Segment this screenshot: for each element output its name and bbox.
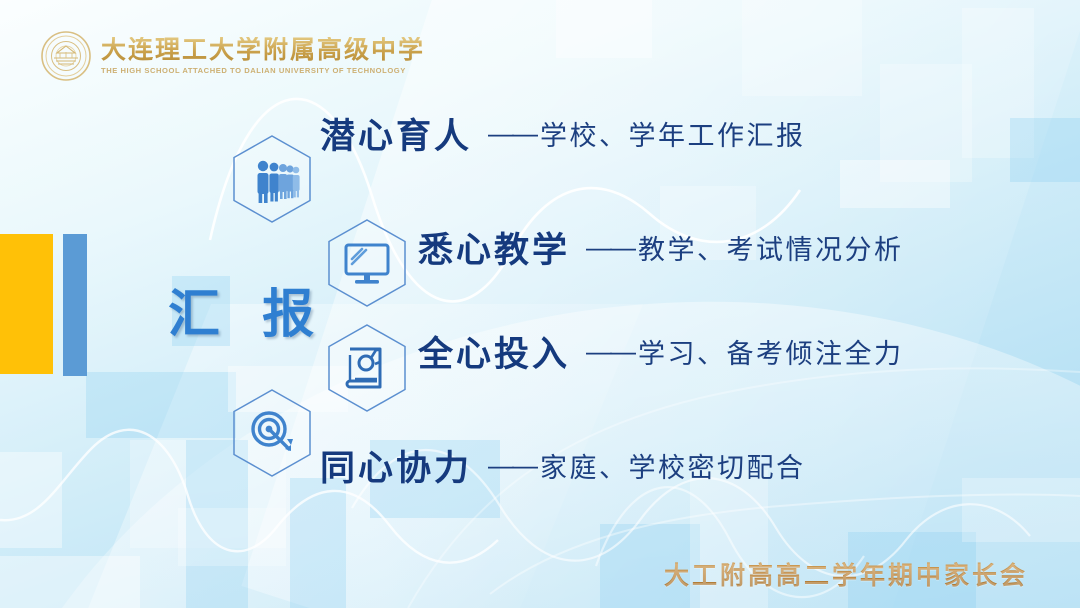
background-rect xyxy=(1010,118,1080,182)
school-name-en: THE HIGH SCHOOL ATTACHED TO DALIAN UNIVE… xyxy=(101,66,425,75)
row-dash: —— xyxy=(586,336,634,367)
content-row: 同心协力 —— 家庭、学校密切配合 xyxy=(320,440,806,491)
row-subtitle: 教学、考试情况分析 xyxy=(638,228,904,267)
background-rect xyxy=(0,452,62,548)
background-rect xyxy=(178,508,286,566)
row-dash: —— xyxy=(488,118,536,149)
background-rect xyxy=(556,0,652,58)
row-subtitle: 学校、学年工作汇报 xyxy=(540,114,806,153)
background-wave-curves xyxy=(0,0,1080,608)
row-subtitle: 学习、备考倾注全力 xyxy=(638,332,904,371)
content-row: 悉心教学 —— 教学、考试情况分析 xyxy=(418,222,904,273)
row-title: 全心投入 xyxy=(418,326,570,377)
presentation-slide: 大连理工大学附属高级中学 THE HIGH SCHOOL ATTACHED TO… xyxy=(0,0,1080,608)
row-dash: —— xyxy=(586,232,634,263)
accent-bar-blue xyxy=(63,234,87,376)
row-dash: —— xyxy=(488,450,536,481)
content-row: 全心投入 —— 学习、备考倾注全力 xyxy=(418,326,904,377)
target-dartboard-icon xyxy=(229,387,315,479)
background-rect xyxy=(86,372,236,438)
background-rect xyxy=(0,556,140,608)
row-title: 潜心育人 xyxy=(320,108,472,159)
section-label: 汇 报 xyxy=(168,272,326,347)
background-rect xyxy=(880,64,972,182)
background-rect xyxy=(742,0,862,96)
background-arc-sweep xyxy=(0,242,1080,608)
school-logo: 大连理工大学附属高级中学 THE HIGH SCHOOL ATTACHED TO… xyxy=(40,30,425,82)
row-title: 同心协力 xyxy=(320,440,472,491)
background-rect xyxy=(962,8,1034,158)
book-notebook-icon xyxy=(324,322,410,414)
row-subtitle: 家庭、学校密切配合 xyxy=(540,446,806,485)
background-rect xyxy=(962,478,1080,542)
people-group-icon xyxy=(229,133,315,225)
background-rect xyxy=(840,160,950,208)
content-row: 潜心育人 —— 学校、学年工作汇报 xyxy=(320,108,806,159)
slide-footer-title: 大工附高高二学年期中家长会 xyxy=(664,556,1028,592)
accent-bar-gold xyxy=(0,234,53,374)
school-name-cn: 大连理工大学附属高级中学 xyxy=(101,37,425,63)
background-rect xyxy=(290,478,346,608)
row-title: 悉心教学 xyxy=(418,222,570,273)
desktop-monitor-icon xyxy=(324,217,410,309)
background-decoration xyxy=(0,0,1080,608)
university-seal-icon xyxy=(40,30,92,82)
